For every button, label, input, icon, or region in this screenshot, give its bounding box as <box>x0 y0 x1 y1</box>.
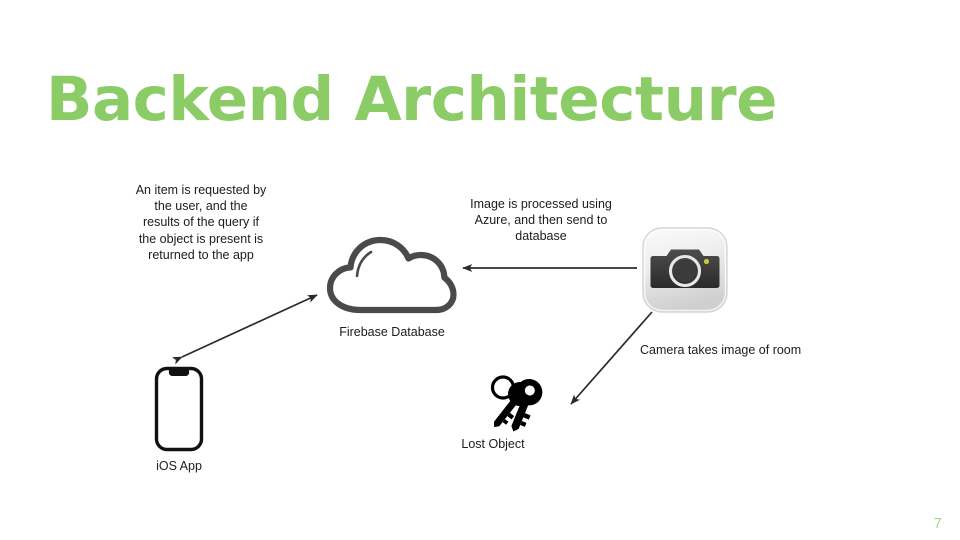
annotation-app-query: An item is requested by the user, and th… <box>135 182 267 263</box>
slide-canvas: Backend Architecture <box>0 0 960 540</box>
camera-node[interactable] <box>641 226 729 314</box>
camera-app-icon <box>641 226 729 314</box>
page-number: 7 <box>934 515 942 532</box>
firebase-database-label: Firebase Database <box>330 324 454 340</box>
connector-ios-app-to-firebase <box>182 295 317 357</box>
keys-icon <box>486 372 570 438</box>
page-title: Backend Architecture <box>46 64 876 136</box>
iphone-icon <box>152 364 206 454</box>
lost-object-node[interactable] <box>486 372 570 438</box>
cloud-icon <box>322 232 458 318</box>
annotation-camera-room: Camera takes image of room <box>640 342 840 358</box>
firebase-cloud-node[interactable] <box>322 232 458 318</box>
lost-object-label: Lost Object <box>448 436 538 452</box>
annotation-azure-processing: Image is processed using Azure, and then… <box>452 196 630 245</box>
ios-app-label: iOS App <box>137 458 221 474</box>
ios-app-node[interactable] <box>152 364 206 454</box>
